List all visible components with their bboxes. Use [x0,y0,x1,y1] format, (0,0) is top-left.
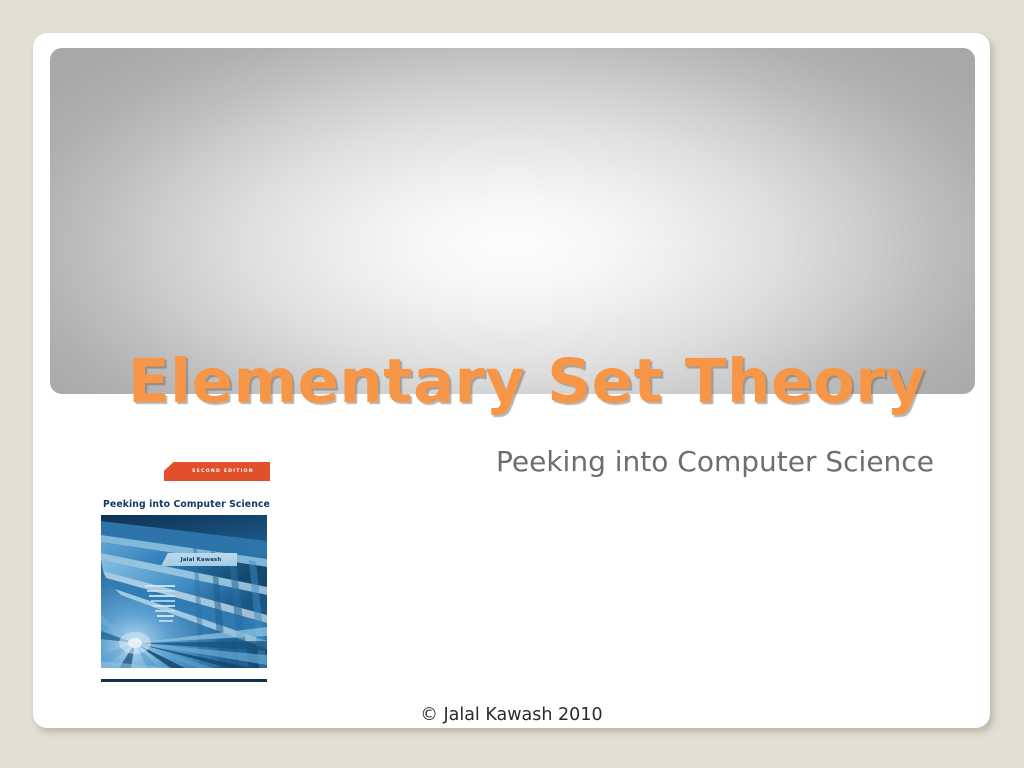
book-cover-bottom-rule [101,679,267,682]
second-edition-banner: SECOND EDITION [164,462,270,481]
second-edition-label: SECOND EDITION [192,469,254,474]
book-cover-author-name: Jalal Kawash [181,557,222,563]
book-cover-author-band: Jalal Kawash [161,553,237,566]
book-cover-photo [101,515,267,668]
title-banner-panel [50,48,975,394]
slide-subtitle: Peeking into Computer Science [496,445,934,478]
copyright-footer: © Jalal Kawash 2010 [33,705,990,725]
tunnel-illustration [101,515,267,668]
slide-frame: Elementary Set Theory Peeking into Compu… [33,33,990,728]
book-cover-title: Peeking into Computer Science [103,499,270,510]
page-title: Elementary Set Theory [128,351,988,412]
book-cover-image: SECOND EDITION Peeking into Computer Sci… [67,423,272,651]
